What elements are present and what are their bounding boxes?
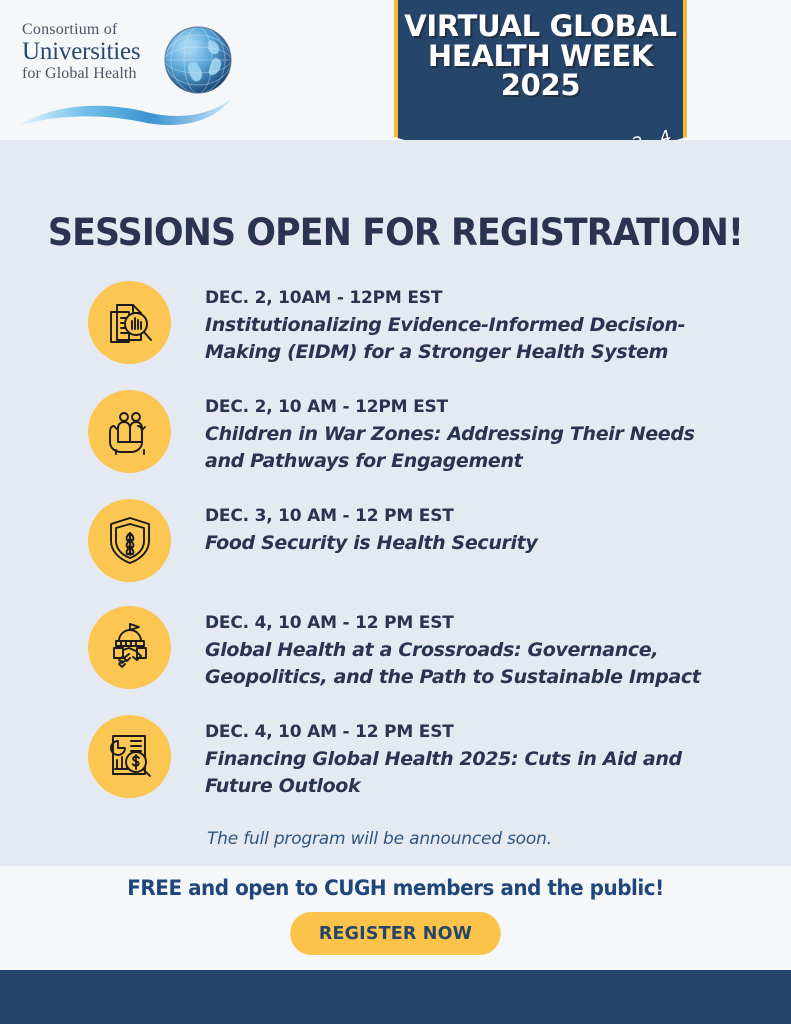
session-title: Financing Global Health 2025: Cuts in Ai… bbox=[205, 746, 725, 800]
session-text: DEC. 2, 10AM - 12PM EST Institutionalizi… bbox=[205, 281, 725, 366]
session-datetime: DEC. 2, 10 AM - 12PM EST bbox=[205, 397, 725, 417]
cugh-logo: Consortium of Universities for Global He… bbox=[14, 16, 242, 128]
session-datetime: DEC. 4, 10 AM - 12 PM EST bbox=[205, 722, 725, 742]
logo-line-1: Consortium of bbox=[22, 22, 172, 38]
session-datetime: DEC. 3, 10 AM - 12 PM EST bbox=[205, 506, 537, 526]
badge-title-line-2: HEALTH WEEK bbox=[404, 42, 677, 72]
session-title: Institutionalizing Evidence-Informed Dec… bbox=[205, 312, 725, 366]
wave-swoosh-icon bbox=[16, 96, 236, 130]
session-item[interactable]: DEC. 2, 10 AM - 12PM EST Children in War… bbox=[88, 390, 728, 475]
program-note: The full program will be announced soon. bbox=[207, 829, 552, 849]
session-title: Global Health at a Crossroads: Governanc… bbox=[205, 637, 725, 691]
logo-line-3: for Global Health bbox=[22, 66, 172, 82]
register-now-button[interactable]: REGISTER NOW bbox=[290, 912, 500, 955]
event-badge-title: VIRTUAL GLOBAL HEALTH WEEK 2025 bbox=[394, 12, 687, 101]
logo-line-2: Universities bbox=[22, 39, 172, 64]
session-item[interactable]: DEC. 4, 10 AM - 12 PM EST Financing Glob… bbox=[88, 715, 728, 800]
badge-title-line-3: 2025 bbox=[404, 71, 677, 101]
session-text: DEC. 4, 10 AM - 12 PM EST Global Health … bbox=[205, 606, 725, 691]
footer-bar bbox=[0, 970, 791, 1024]
logo-wordmark: Consortium of Universities for Global He… bbox=[22, 22, 172, 82]
poster-canvas: Consortium of Universities for Global He… bbox=[0, 0, 791, 1024]
hands-holding-children-icon bbox=[88, 390, 171, 473]
session-list: DEC. 2, 10AM - 12PM EST Institutionalizi… bbox=[88, 281, 728, 824]
document-magnifier-chart-icon bbox=[88, 281, 171, 364]
shield-wheat-icon bbox=[88, 499, 171, 582]
page-title: SESSIONS OPEN FOR REGISTRATION! bbox=[24, 211, 768, 254]
session-item[interactable]: DEC. 4, 10 AM - 12 PM EST Global Health … bbox=[88, 606, 728, 691]
session-title: Children in War Zones: Addressing Their … bbox=[205, 421, 725, 475]
session-item[interactable]: DEC. 3, 10 AM - 12 PM EST Food Security … bbox=[88, 499, 728, 582]
globe-icon bbox=[160, 22, 236, 98]
session-datetime: DEC. 2, 10AM - 12PM EST bbox=[205, 288, 725, 308]
finance-report-magnifier-icon bbox=[88, 715, 171, 798]
government-handshake-icon bbox=[88, 606, 171, 689]
session-text: DEC. 3, 10 AM - 12 PM EST Food Security … bbox=[205, 499, 537, 557]
session-item[interactable]: DEC. 2, 10AM - 12PM EST Institutionalizi… bbox=[88, 281, 728, 366]
free-access-note: FREE and open to CUGH members and the pu… bbox=[20, 876, 771, 900]
badge-title-line-1: VIRTUAL GLOBAL bbox=[404, 12, 677, 42]
session-title: Food Security is Health Security bbox=[205, 530, 537, 557]
session-text: DEC. 4, 10 AM - 12 PM EST Financing Glob… bbox=[205, 715, 725, 800]
session-text: DEC. 2, 10 AM - 12PM EST Children in War… bbox=[205, 390, 725, 475]
session-datetime: DEC. 4, 10 AM - 12 PM EST bbox=[205, 613, 725, 633]
